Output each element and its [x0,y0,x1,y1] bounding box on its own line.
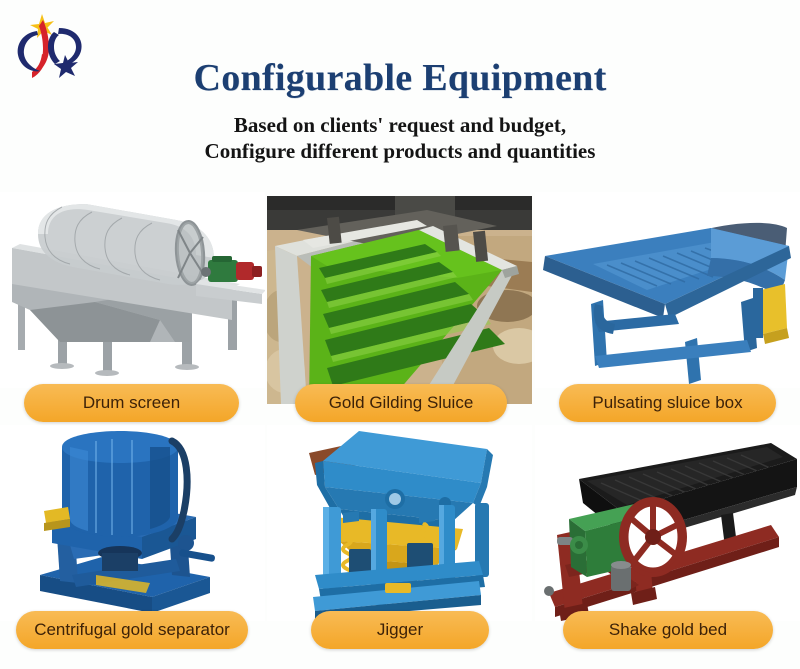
product-grid: Drum screen [0,190,800,669]
product-card-shake-gold-bed[interactable]: Shake gold bed [535,423,800,669]
header: Configurable Equipment Based on clients'… [0,0,800,164]
product-label-pulsating-sluice-box[interactable]: Pulsating sluice box [559,384,776,422]
product-label-shake-gold-bed[interactable]: Shake gold bed [563,611,773,649]
product-card-jigger[interactable]: Jigger [267,423,532,669]
pulsating-sluice-box-photo [535,192,800,388]
poster-page: Configurable Equipment Based on clients'… [0,0,800,669]
product-card-drum-screen[interactable]: Drum screen [0,190,265,430]
subtitle-line-2: Configure different products and quantit… [0,138,800,164]
gold-gilding-sluice-photo [267,196,532,404]
jigger-photo [267,425,532,621]
shake-gold-bed-photo [535,425,800,621]
page-title: Configurable Equipment [0,56,800,100]
product-label-centrifugal-gold-separator[interactable]: Centrifugal gold separator [16,611,248,649]
subtitle-line-1: Based on clients' request and budget, [0,112,800,138]
product-card-centrifugal-gold-separator[interactable]: Centrifugal gold separator [0,423,265,669]
product-label-jigger[interactable]: Jigger [311,611,489,649]
product-card-pulsating-sluice-box[interactable]: Pulsating sluice box [535,190,800,430]
centrifugal-gold-separator-photo [0,425,265,621]
drum-screen-photo [0,192,265,388]
page-subtitle: Based on clients' request and budget, Co… [0,112,800,164]
product-label-drum-screen[interactable]: Drum screen [24,384,239,422]
product-card-gold-gilding-sluice[interactable]: Gold Gilding Sluice [267,190,532,430]
product-label-gold-gilding-sluice[interactable]: Gold Gilding Sluice [295,384,507,422]
